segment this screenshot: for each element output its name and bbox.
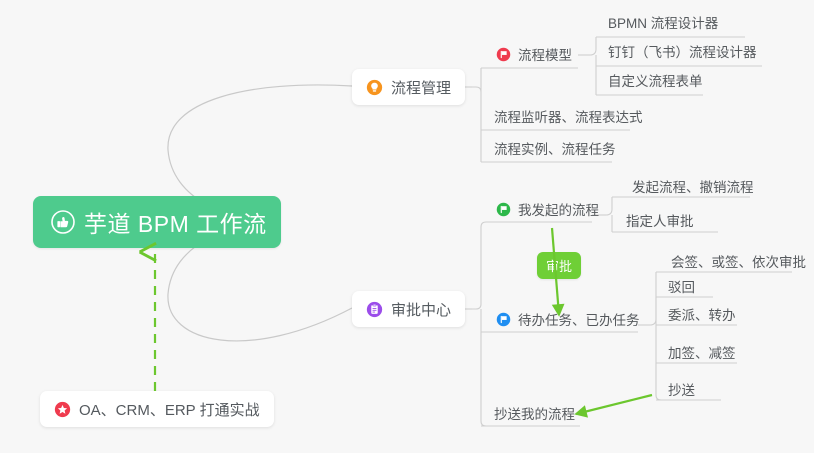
leaf-label: 抄送我的流程 xyxy=(494,403,575,423)
mindmap-canvas: 芋道 BPM 工作流 流程管理 流程模型 BPMN 流程设计器 钉钉（飞书）流程… xyxy=(0,0,814,453)
leaf-flow-listener[interactable]: 流程监听器、流程表达式 xyxy=(488,106,647,130)
leaf-reject[interactable]: 驳回 xyxy=(662,276,699,300)
leaf-label: 指定人审批 xyxy=(626,210,694,230)
node-label: 流程管理 xyxy=(391,77,451,98)
lightbulb-icon xyxy=(366,79,383,96)
node-oa-crm-erp[interactable]: OA、CRM、ERP 打通实战 xyxy=(40,391,274,427)
leaf-label: 委派、转办 xyxy=(668,304,736,324)
star-icon xyxy=(54,401,71,418)
leaf-custom-form[interactable]: 自定义流程表单 xyxy=(602,70,707,94)
leaf-label: 待办任务、已办任务 xyxy=(518,309,640,329)
leaf-delegate-transfer[interactable]: 委派、转办 xyxy=(662,304,740,328)
leaf-dingtalk-designer[interactable]: 钉钉（飞书）流程设计器 xyxy=(602,41,761,65)
leaf-label: 会签、或签、依次审批 xyxy=(671,251,806,271)
trunk-flow-management xyxy=(472,87,481,162)
leaf-flow-model[interactable]: 流程模型 xyxy=(490,44,576,68)
flag-icon xyxy=(496,47,511,62)
trunk-approval-center-up xyxy=(472,227,481,309)
tag-label: 审批 xyxy=(546,259,572,274)
leaf-label: 流程监听器、流程表达式 xyxy=(494,106,643,126)
leaf-cc[interactable]: 抄送 xyxy=(662,379,699,403)
leaf-label: 发起流程、撤销流程 xyxy=(632,176,754,196)
node-label: 审批中心 xyxy=(391,299,451,320)
leaf-add-remove-sign[interactable]: 加签、减签 xyxy=(662,342,740,366)
leaf-label: 流程模型 xyxy=(518,44,572,64)
tag-approve[interactable]: 审批 xyxy=(537,252,581,279)
leaf-label: 我发起的流程 xyxy=(518,199,599,219)
node-approval-center[interactable]: 审批中心 xyxy=(352,291,465,327)
flag-icon xyxy=(496,312,511,327)
leaf-label: BPMN 流程设计器 xyxy=(608,12,718,32)
leaf-designated-approver[interactable]: 指定人审批 xyxy=(620,210,698,234)
leaf-label: 钉钉（飞书）流程设计器 xyxy=(608,41,757,61)
leaf-label: 驳回 xyxy=(668,276,695,296)
clipboard-icon xyxy=(366,301,383,318)
leaf-bpmn-designer[interactable]: BPMN 流程设计器 xyxy=(602,12,722,36)
leaf-cc-my-flow[interactable]: 抄送我的流程 xyxy=(488,403,579,427)
node-label: OA、CRM、ERP 打通实战 xyxy=(79,399,260,420)
leaf-start-cancel-flow[interactable]: 发起流程、撤销流程 xyxy=(626,176,758,200)
leaf-label: 流程实例、流程任务 xyxy=(494,138,616,158)
leaf-label: 自定义流程表单 xyxy=(608,70,703,90)
leaf-countersign[interactable]: 会签、或签、依次审批 xyxy=(665,251,810,275)
leaf-label: 抄送 xyxy=(668,379,695,399)
leaf-label: 加签、减签 xyxy=(668,342,736,362)
root-label: 芋道 BPM 工作流 xyxy=(84,205,267,239)
arrow-cc-to-cc-my-flow xyxy=(576,395,652,414)
root-node[interactable]: 芋道 BPM 工作流 xyxy=(33,196,281,248)
leaf-flow-instance[interactable]: 流程实例、流程任务 xyxy=(488,138,620,162)
flag-icon xyxy=(496,202,511,217)
thumbs-up-icon xyxy=(51,210,75,234)
leaf-todo-done-tasks[interactable]: 待办任务、已办任务 xyxy=(490,309,644,333)
node-flow-management[interactable]: 流程管理 xyxy=(352,69,465,105)
leaf-my-initiated[interactable]: 我发起的流程 xyxy=(490,199,603,223)
